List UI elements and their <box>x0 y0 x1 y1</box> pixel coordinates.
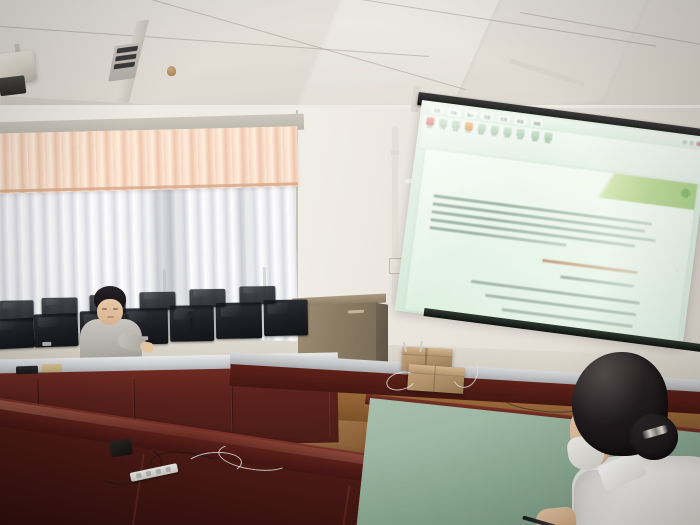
conference-monitor[interactable] <box>264 299 309 336</box>
operator-face <box>97 299 123 325</box>
paragraph-icon <box>452 120 461 129</box>
minimize-icon[interactable] <box>683 140 687 144</box>
doc-heading <box>542 259 638 275</box>
ribbon-item-paste[interactable]: 粘贴 <box>425 117 434 130</box>
ribbon-label: 编辑 <box>478 133 483 136</box>
app-tab-5[interactable]: 审阅 <box>514 117 528 126</box>
mouth <box>107 316 114 318</box>
undo-icon <box>531 130 540 139</box>
eye-left <box>102 308 107 310</box>
eye-right <box>113 308 118 310</box>
styles-icon <box>465 122 474 131</box>
ribbon-item-select[interactable]: 选择 <box>516 128 525 141</box>
app-tab-3[interactable]: 页面 <box>480 112 494 121</box>
conference-monitor[interactable] <box>216 302 263 339</box>
doc-subheading <box>560 275 634 287</box>
replace-icon <box>503 127 512 136</box>
edit-icon <box>477 123 486 132</box>
projector-device <box>0 49 43 98</box>
close-icon[interactable] <box>696 142 700 146</box>
select-icon <box>516 128 525 137</box>
conference-monitor[interactable] <box>189 289 225 308</box>
conduit-clip <box>391 150 399 155</box>
floor-adapter <box>109 439 133 458</box>
ribbon-item-styles[interactable]: 样式 <box>464 122 473 135</box>
ceiling-light-fixture <box>108 42 141 81</box>
ribbon-item-edit[interactable]: 编辑 <box>477 123 486 136</box>
box-flap <box>402 347 452 358</box>
sprinkler-icon <box>167 66 176 76</box>
conference-monitor[interactable] <box>139 292 175 311</box>
font-icon <box>439 118 448 127</box>
quick-tool-label: 恢复 <box>545 141 550 144</box>
photo-scene: 文件 开始 插入 页面 引用 审阅 视图 <box>0 0 700 525</box>
conference-monitor[interactable] <box>0 318 35 350</box>
quick-tool-label: 撤销 <box>532 140 537 143</box>
ribbon-label: 字体 <box>440 128 445 131</box>
ribbon-label: 样式 <box>465 131 470 134</box>
conference-monitor[interactable] <box>41 297 77 316</box>
monitor-badge <box>42 342 51 346</box>
quick-tool-redo[interactable]: 恢复 <box>543 132 552 145</box>
conference-monitor[interactable] <box>0 300 34 321</box>
ribbon-item-paragraph[interactable]: 段落 <box>451 120 460 133</box>
app-tab-4[interactable]: 引用 <box>497 114 511 123</box>
quick-tool-undo[interactable]: 撤销 <box>531 130 540 143</box>
maximize-icon[interactable] <box>689 141 693 145</box>
projection-screen: 文件 开始 插入 页面 引用 审阅 视图 <box>418 92 700 324</box>
projector-lens-icon <box>0 75 26 96</box>
lectern-side <box>376 303 388 363</box>
doc-list-line <box>485 294 636 316</box>
foreground-attendee <box>556 352 700 525</box>
doc-page-number: 1 <box>676 268 678 272</box>
window-controls[interactable] <box>683 140 700 146</box>
desk-object-paper[interactable] <box>42 364 62 373</box>
ribbon-label: 替换 <box>504 136 509 139</box>
desk-microphone-stem[interactable] <box>190 317 193 339</box>
ribbon-label: 粘贴 <box>427 126 432 129</box>
ribbon-item-replace[interactable]: 替换 <box>503 127 512 140</box>
app-tab-0[interactable]: 文件 <box>430 106 444 115</box>
redo-icon <box>544 132 553 141</box>
app-tab-6[interactable]: 视图 <box>530 119 544 128</box>
app-tab-1[interactable]: 开始 <box>447 108 461 117</box>
find-icon <box>490 125 499 134</box>
paste-icon <box>426 117 435 126</box>
ribbon-label: 查找 <box>491 134 496 137</box>
ribbon-label: 段落 <box>453 129 458 132</box>
conference-monitor[interactable] <box>33 313 78 348</box>
seated-operator <box>78 286 142 366</box>
ribbon-item-font[interactable]: 字体 <box>438 118 447 131</box>
conference-monitor[interactable] <box>239 286 275 305</box>
ribbon-label: 选择 <box>517 138 522 141</box>
monitor-row <box>0 293 325 361</box>
desk-microphone-head[interactable] <box>188 311 195 318</box>
desk-object-dark[interactable] <box>16 366 38 375</box>
attendee-hair-bun <box>630 414 678 460</box>
box-seam <box>433 366 436 392</box>
ribbon-item-find[interactable]: 查找 <box>490 125 499 138</box>
app-tab-2[interactable]: 插入 <box>464 110 478 119</box>
